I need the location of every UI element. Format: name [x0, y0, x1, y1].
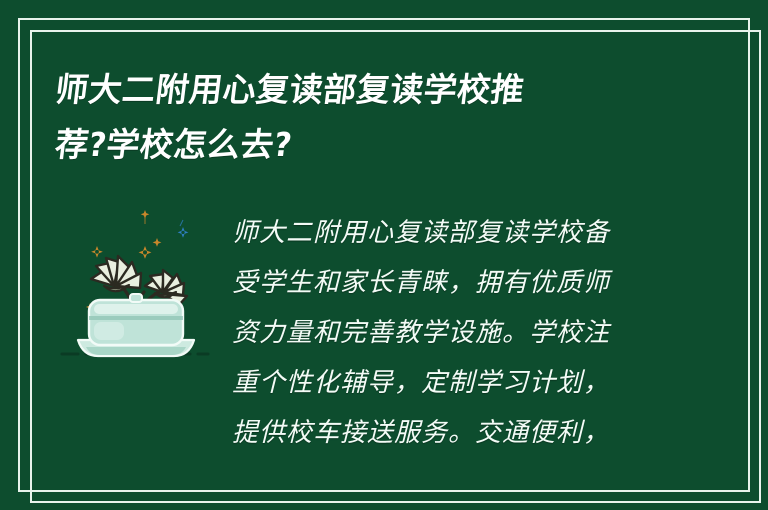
body-line-2: 受学生和家长青睐，拥有优质师 — [232, 258, 652, 308]
body-line-3: 资力量和完善教学设施。学校注 — [232, 308, 652, 358]
title-line-1: 师大二附用心复读部复读学校推 — [52, 62, 679, 117]
pot-body-shape — [89, 294, 183, 345]
body-line-4: 重个性化辅导，定制学习计划， — [232, 358, 652, 408]
body-line-1: 师大二附用心复读部复读学校备 — [232, 208, 652, 258]
title-line-2: 荐?学校怎么去? — [52, 117, 679, 172]
body-paragraph: 师大二附用心复读部复读学校备 受学生和家长青睐，拥有优质师 资力量和完善教学设施… — [232, 208, 652, 458]
body-line-5: 提供校车接送服务。交通便利， — [232, 408, 652, 458]
page-title: 师大二附用心复读部复读学校推 荐?学校怎么去? — [52, 62, 672, 172]
poster-canvas: 师大二附用心复读部复读学校推 荐?学校怎么去? — [0, 0, 768, 510]
potted-flower-illustration — [56, 190, 216, 375]
flower-left-shape — [91, 256, 141, 291]
